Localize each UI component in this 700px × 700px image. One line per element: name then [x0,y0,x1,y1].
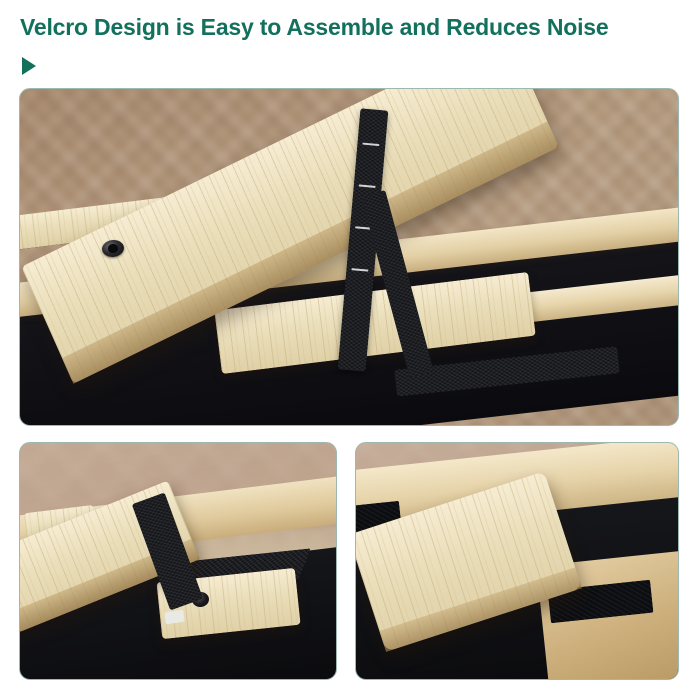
photo-scene-main [20,89,678,425]
velcro-slat-end-block-photo [19,442,337,680]
staple-mark [351,268,368,272]
play-triangle-icon [22,57,36,75]
page-title: Velcro Design is Easy to Assemble and Re… [20,14,608,41]
staple-mark [362,143,379,147]
photo-scene-bottom-left [20,443,336,679]
staple-mark [359,185,376,189]
velcro-strap-lifted-slat-photo [19,88,679,426]
section-marker [20,55,60,79]
photo-scene-bottom-right [356,443,678,679]
slat-resting-on-velcro-strip-photo [355,442,679,680]
white-tag [165,609,185,623]
